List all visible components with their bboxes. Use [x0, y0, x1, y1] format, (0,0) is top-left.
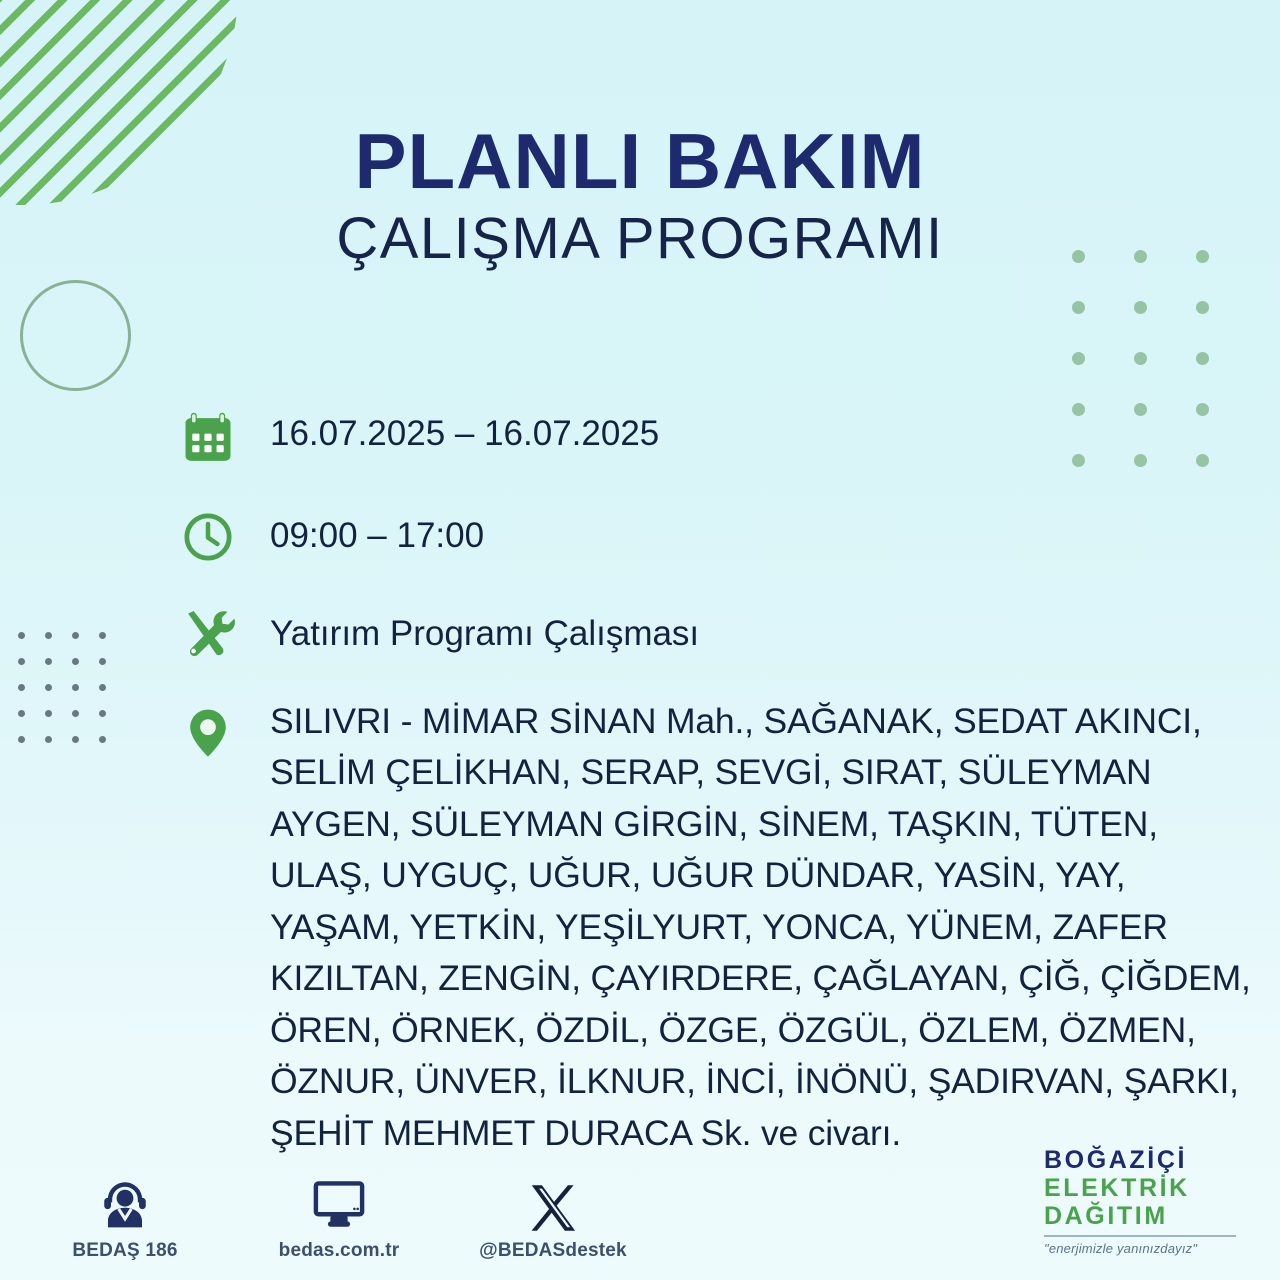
clock-icon: [176, 506, 240, 564]
tools-icon: [176, 602, 240, 660]
brand-line-bogazici: BOĞAZİÇİ: [1044, 1146, 1254, 1174]
location-pin-icon: [176, 696, 240, 760]
contact-x-handle[interactable]: @BEDASdestek: [478, 1174, 628, 1262]
brand-line-dagitim: DAĞITIM: [1044, 1202, 1254, 1230]
info-row-time: 09:00 – 17:00: [176, 506, 1256, 602]
dot-grid-left-decoration: [18, 632, 126, 762]
circle-outline-decoration: [20, 280, 131, 391]
info-row-date: 16.07.2025 – 16.07.2025: [176, 402, 1256, 506]
brand-line-elektrik: ELEKTRİK: [1044, 1174, 1254, 1202]
call-center-agent-icon: [96, 1174, 154, 1232]
brand-divider: [1044, 1235, 1236, 1237]
header: PLANLI BAKIM ÇALIŞMA PROGRAMI: [0, 124, 1280, 273]
info-row-work-type: Yatırım Programı Çalışması: [176, 602, 1256, 696]
date-range-label: 16.07.2025 – 16.07.2025: [240, 402, 659, 454]
contact-phone[interactable]: BEDAŞ 186: [50, 1174, 200, 1262]
info-row-address: SILIVRI - MİMAR SİNAN Mah., SAĞANAK, SED…: [176, 696, 1256, 1159]
page-subtitle: ÇALIŞMA PROGRAMI: [0, 205, 1280, 273]
monitor-icon: [308, 1174, 370, 1232]
contact-phone-label: BEDAŞ 186: [72, 1240, 177, 1262]
brand-tagline: "enerjimizle yanınızdayız": [1044, 1241, 1254, 1256]
maintenance-info-block: 16.07.2025 – 16.07.2025 09:00 – 17:00 Ya…: [176, 402, 1256, 1159]
address-label: SILIVRI - MİMAR SİNAN Mah., SAĞANAK, SED…: [240, 696, 1256, 1159]
contact-website[interactable]: bedas.com.tr: [264, 1174, 414, 1262]
footer-contacts: BEDAŞ 186 bedas.com.tr @BEDASdestek: [50, 1174, 628, 1262]
calendar-icon: [176, 402, 240, 464]
contact-x-label: @BEDASdestek: [479, 1240, 627, 1262]
x-twitter-icon: [527, 1174, 579, 1232]
contact-website-label: bedas.com.tr: [279, 1240, 400, 1262]
page-title: PLANLI BAKIM: [0, 124, 1280, 199]
brand-logo: BOĞAZİÇİ ELEKTRİK DAĞITIM "enerjimizle y…: [1044, 1146, 1254, 1256]
work-type-label: Yatırım Programı Çalışması: [240, 602, 699, 654]
time-range-label: 09:00 – 17:00: [240, 506, 484, 556]
